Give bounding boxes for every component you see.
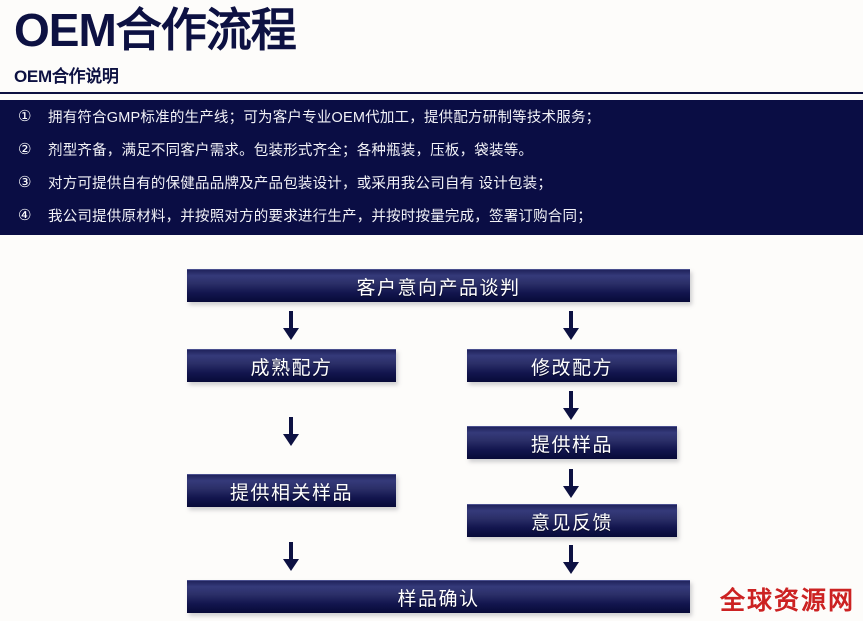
arrow-down-icon bbox=[278, 311, 304, 341]
arrow-down-icon bbox=[558, 545, 584, 575]
arrow-down-icon bbox=[278, 542, 304, 572]
arrow-down-icon bbox=[558, 311, 584, 341]
flow-node-sample-confirm: 样品确认 bbox=[187, 580, 690, 613]
list-item: ④ 我公司提供原材料，并按照对方的要求进行生产，并按时按量完成，签署订购合同； bbox=[0, 199, 863, 232]
list-marker-2: ② bbox=[18, 142, 48, 157]
list-item-text: 拥有符合GMP标准的生产线；可为客户专业OEM代加工，提供配方研制等技术服务； bbox=[48, 106, 600, 127]
flow-node-provide-related-sample: 提供相关样品 bbox=[187, 474, 396, 507]
list-item-text: 剂型齐备，满足不同客户需求。包装形式齐全；各种瓶装，压板，袋装等。 bbox=[48, 139, 533, 160]
flow-node-negotiation: 客户意向产品谈判 bbox=[187, 269, 690, 302]
flow-node-modify-formula: 修改配方 bbox=[467, 349, 677, 382]
watermark-logo: 全球资源网 bbox=[720, 581, 855, 617]
oem-notes-panel: ① 拥有符合GMP标准的生产线；可为客户专业OEM代加工，提供配方研制等技术服务… bbox=[0, 100, 863, 235]
list-item: ② 剂型齐备，满足不同客户需求。包装形式齐全；各种瓶装，压板，袋装等。 bbox=[0, 133, 863, 166]
list-item-text: 对方可提供自有的保健品品牌及产品包装设计，或采用我公司自有 设计包装； bbox=[48, 172, 552, 193]
section-subtitle: OEM合作说明 bbox=[14, 62, 863, 87]
arrow-down-icon bbox=[558, 469, 584, 499]
arrow-down-icon bbox=[278, 417, 304, 447]
flow-node-mature-formula: 成熟配方 bbox=[187, 349, 396, 382]
oem-process-flowchart: 客户意向产品谈判 成熟配方 修改配方 提供样品 提供相关样品 意见反馈 bbox=[0, 235, 863, 621]
list-marker-4: ④ bbox=[18, 208, 48, 223]
page-header: OEM合作流程 OEM合作说明 bbox=[0, 0, 863, 94]
page-title: OEM合作流程 bbox=[14, 6, 863, 56]
list-item: ① 拥有符合GMP标准的生产线；可为客户专业OEM代加工，提供配方研制等技术服务… bbox=[0, 100, 863, 133]
arrow-down-icon bbox=[558, 391, 584, 421]
list-item-text: 我公司提供原材料，并按照对方的要求进行生产，并按时按量完成，签署订购合同； bbox=[48, 205, 592, 226]
list-marker-1: ① bbox=[18, 109, 48, 124]
list-item: ③ 对方可提供自有的保健品品牌及产品包装设计，或采用我公司自有 设计包装； bbox=[0, 166, 863, 199]
list-marker-3: ③ bbox=[18, 175, 48, 190]
flow-node-feedback: 意见反馈 bbox=[467, 504, 677, 537]
header-divider bbox=[0, 92, 863, 94]
flow-node-provide-sample: 提供样品 bbox=[467, 426, 677, 459]
